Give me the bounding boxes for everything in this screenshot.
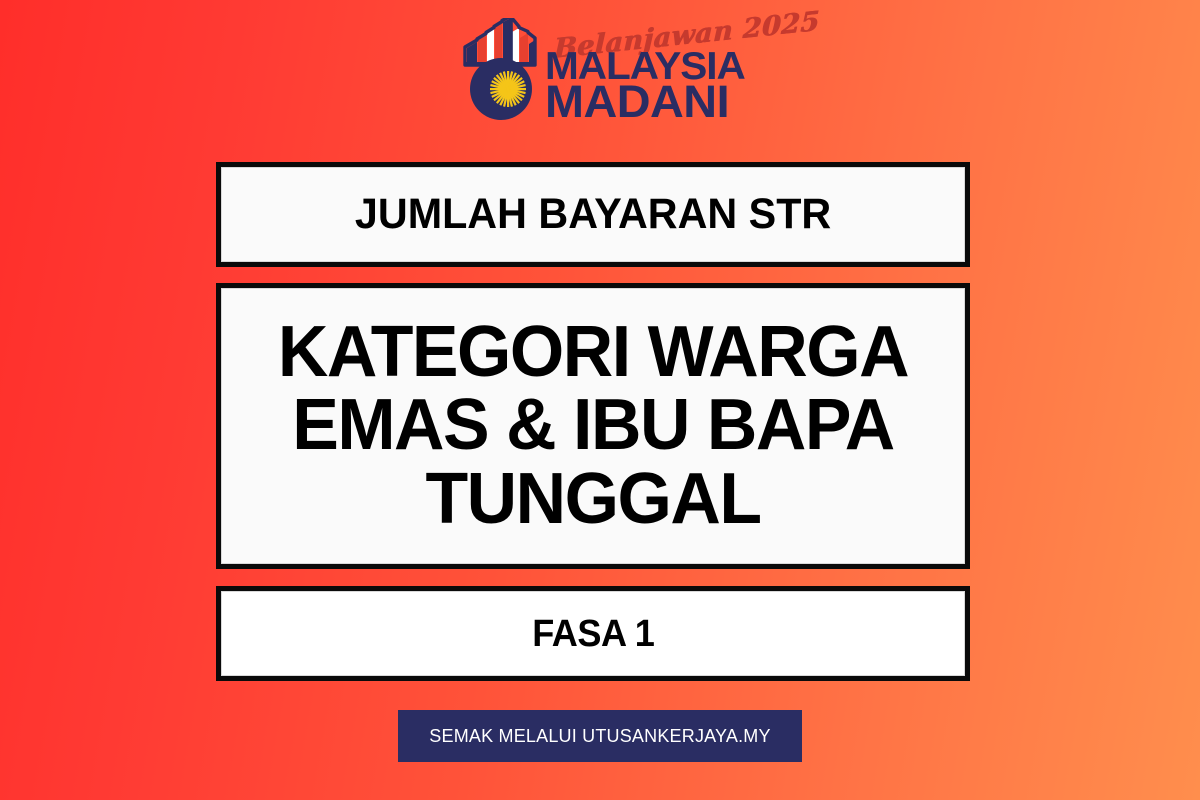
logo-word-madani: MADANI <box>545 83 729 122</box>
malaysia-madani-logo-icon <box>463 18 539 122</box>
phase-label: FASA 1 <box>515 615 671 653</box>
footer-source-banner[interactable]: SEMAK MELALUI UTUSANKERJAYA.MY <box>398 710 802 762</box>
logo-inner-group: Belanjawan 2025 MALAYSIA MADANI <box>463 18 737 124</box>
footer-source-text: SEMAK MELALUI UTUSANKERJAYA.MY <box>429 726 770 747</box>
panel-payment-total: JUMLAH BAYARAN STR <box>216 162 970 267</box>
malaysia-madani-logo: Belanjawan 2025 MALAYSIA MADANI <box>0 18 1200 140</box>
category-heading: KATEGORI WARGA EMAS & IBU BAPA TUNGGAL <box>232 316 954 536</box>
panel-category: KATEGORI WARGA EMAS & IBU BAPA TUNGGAL <box>216 283 970 569</box>
poster-canvas: Belanjawan 2025 MALAYSIA MADANI JUMLAH B… <box>0 0 1200 800</box>
page-title: JUMLAH BAYARAN STR <box>338 193 849 236</box>
logo-wordmark: Belanjawan 2025 MALAYSIA MADANI <box>545 50 737 124</box>
panel-phase: FASA 1 <box>216 586 970 681</box>
